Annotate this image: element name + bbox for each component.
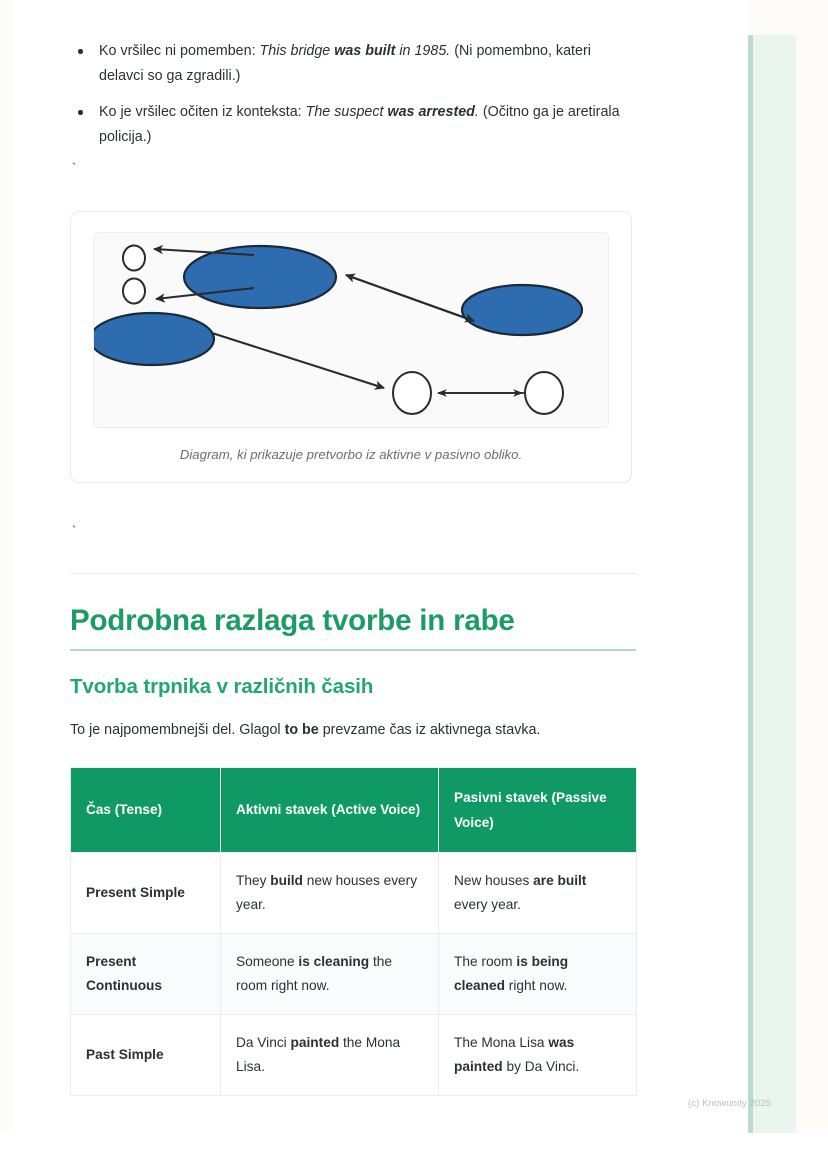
section-title: Podrobna razlaga tvorbe in rabe [70,603,636,639]
tense-comparison-table: Čas (Tense) Aktivni stavek (Active Voice… [70,767,637,1096]
cell-text-bold: are built [533,873,586,888]
document-content: Ko vršilec ni pomemben: This bridge was … [70,0,636,1096]
node-ellipse-blue-left [94,313,214,365]
section-divider [70,573,636,574]
table-body: Present Simple They build new houses eve… [71,852,637,1095]
node-ellipse-blue-right [462,285,582,335]
node-circle-bottom-2 [525,372,563,414]
table-row: Present Simple They build new houses eve… [71,852,637,933]
cell-passive-sentence: The Mona Lisa was painted by Da Vinci. [439,1014,637,1095]
active-passive-diagram [94,233,609,427]
node-ellipse-blue-top [184,246,336,308]
bullet-lead-text: Ko vršilec ni pomemben: [99,43,260,59]
cell-active-sentence: They build new houses every year. [221,852,439,933]
cell-active-sentence: Someone is cleaning the room right now. [221,933,439,1014]
cell-text-pre: Someone [236,954,298,969]
diagram-image-frame [93,232,609,428]
bullet-example-italic: This bridge [260,43,335,59]
cell-text-pre: The room [454,954,516,969]
cell-text-bold: build [270,873,303,888]
cell-tense-name: Present Continuous [71,933,221,1014]
cell-text-pre: Da Vinci [236,1035,291,1050]
lead-bold: to be [285,722,319,738]
cell-text-post: every year. [454,897,521,912]
list-item: Ko vršilec ni pomemben: This bridge was … [70,39,636,89]
arrow-left-to-bottom-circle [212,333,384,388]
cell-tense-name: Present Simple [71,852,221,933]
bullet-example-italic-tail: in 1985. [395,43,450,59]
stray-backtick-two: ` [70,525,636,539]
table-header-cell-active: Aktivni stavek (Active Voice) [221,767,439,852]
table-header-cell-passive: Pasivni stavek (Passive Voice) [439,767,637,852]
bullet-example-emphasis: was built [334,43,395,59]
lead-paragraph: To je najpomembnejši del. Glagol to be p… [70,719,636,741]
node-circle-bottom-1 [393,372,431,414]
figure-card: Diagram, ki prikazuje pretvorbo iz aktiv… [70,211,632,483]
cell-text-pre: They [236,873,270,888]
section-title-underline [70,649,636,651]
bullet-example-italic: The suspect [306,104,388,120]
usage-bullet-list: Ko vršilec ni pomemben: This bridge was … [70,0,636,150]
cell-passive-sentence: The room is being cleaned right now. [439,933,637,1014]
watermark-text: (c) Knowunity 2025 [688,1098,771,1109]
cell-text-pre: New houses [454,873,533,888]
lead-prefix: To je najpomembnejši del. Glagol [70,722,285,738]
subsection-title: Tvorba trpnika v različnih časih [70,674,636,700]
table-row: Past Simple Da Vinci painted the Mona Li… [71,1014,637,1095]
node-circle-empty-2 [123,279,145,304]
bullet-example-emphasis: was arrested [387,104,474,120]
lead-suffix: prevzame čas iz aktivnega stavka. [319,722,541,738]
list-item: Ko je vršilec očiten iz konteksta: The s… [70,100,636,150]
arrow-right-to-top-b [346,275,474,321]
page-bottom-mask [0,1133,828,1171]
cell-text-bold: painted [291,1035,340,1050]
right-side-rail [748,35,796,1133]
table-header-cell-tense: Čas (Tense) [71,767,221,852]
table-head: Čas (Tense) Aktivni stavek (Active Voice… [71,767,637,852]
cell-text-pre: The Mona Lisa [454,1035,548,1050]
right-side-rail-edge [748,35,753,1133]
stray-backtick-one: ` [70,162,636,176]
figure-caption: Diagram, ki prikazuje pretvorbo iz aktiv… [93,446,609,464]
node-circle-empty-1 [123,246,145,271]
cell-passive-sentence: New houses are built every year. [439,852,637,933]
cell-tense-name: Past Simple [71,1014,221,1095]
cell-active-sentence: Da Vinci painted the Mona Lisa. [221,1014,439,1095]
cell-text-bold: is cleaning [298,954,369,969]
bullet-lead-text: Ko je vršilec očiten iz konteksta: [99,104,306,120]
table-row: Present Continuous Someone is cleaning t… [71,933,637,1014]
table-header-row: Čas (Tense) Aktivni stavek (Active Voice… [71,767,637,852]
cell-text-post: by Da Vinci. [503,1059,580,1074]
cell-text-post: right now. [505,978,567,993]
